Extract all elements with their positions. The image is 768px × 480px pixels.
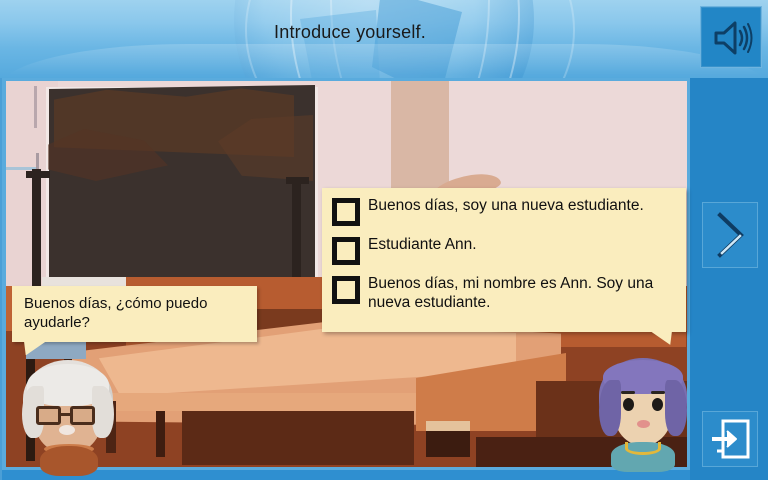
answer-option-2[interactable]: Estudiante Ann. [332,235,676,265]
exit-button[interactable] [702,411,758,467]
mouth [637,420,650,428]
desk-edge [91,393,431,411]
eyebrow [651,391,665,394]
speaker-button[interactable] [700,6,762,68]
answer-label-1: Buenos días, soy una nueva estudiante. [368,196,644,216]
wall-detail-line [34,86,37,128]
answer-options-panel: Buenos días, soy una nueva estudiante. E… [322,188,686,332]
exit-door-icon [703,453,757,470]
eye [623,398,634,411]
glasses-icon [70,406,95,425]
chalkboard-post-arm [26,171,50,178]
scene-left-border [0,78,2,480]
necklace [625,442,661,455]
hair-side-left [599,380,621,436]
student-character [597,358,689,472]
answer-checkbox-2[interactable] [332,237,360,265]
floor-box-top [426,421,470,431]
wall-column [391,81,449,201]
answer-label-2: Estudiante Ann. [368,235,477,255]
clothing [40,446,98,476]
next-button[interactable] [702,202,758,268]
answer-label-3: Buenos días, mi nombre es Ann. Soy una n… [368,274,676,313]
chalkboard-post [32,169,41,301]
desk-shadow [182,411,414,465]
answer-checkbox-1[interactable] [332,198,360,226]
speech-bubble: Buenos días, ¿cómo puedo ayudarle? [12,286,257,342]
desk-leg [156,411,165,457]
answer-option-3[interactable]: Buenos días, mi nombre es Ann. Soy una n… [332,274,676,313]
wall-detail-line [36,153,39,170]
chalkboard-post-arm [286,177,309,184]
page-title: Introduce yourself. [0,22,700,43]
glasses-icon [36,406,61,425]
eyebrow [621,391,635,394]
chevron-right-icon [703,254,757,271]
speech-bubble-text: Buenos días, ¿cómo puedo ayudarle? [24,295,207,331]
eye [652,398,663,411]
header-sweep-decoration [0,44,768,78]
app-header: Introduce yourself. [0,0,768,78]
answer-checkbox-3[interactable] [332,276,360,304]
nose [59,425,75,435]
answer-option-1[interactable]: Buenos días, soy una nueva estudiante. [332,196,676,226]
elderly-teacher-character [18,360,118,472]
glasses-bridge [61,413,70,416]
